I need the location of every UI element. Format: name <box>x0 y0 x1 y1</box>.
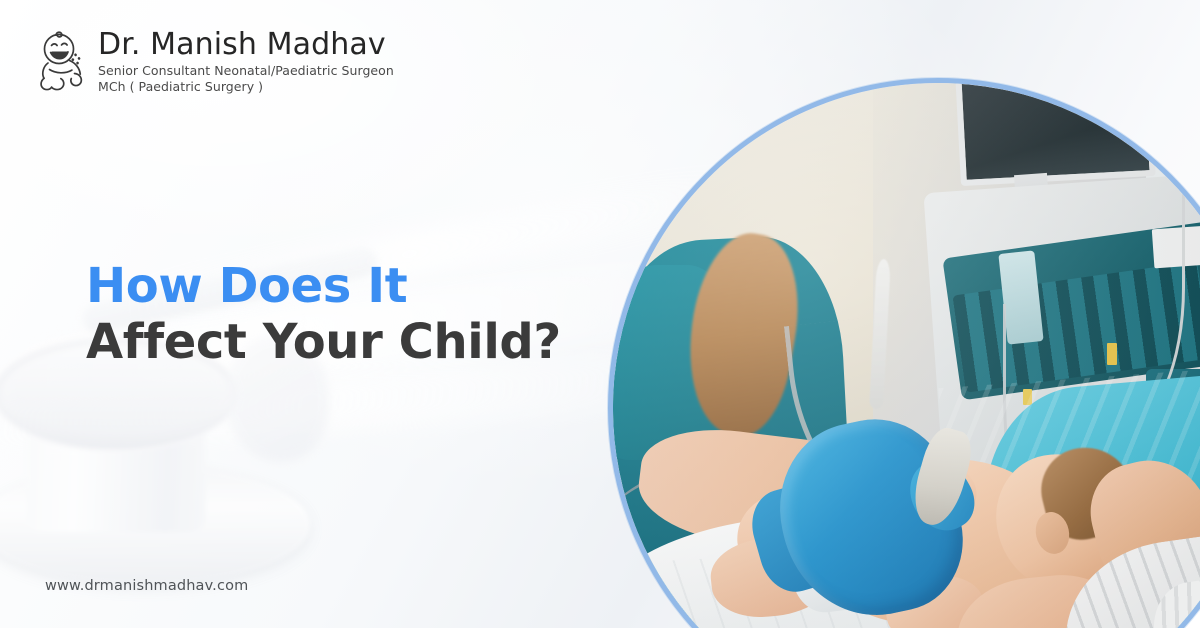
brand-logo[interactable]: Dr. Manish Madhav Senior Consultant Neon… <box>36 28 394 96</box>
brand-name: Dr. Manish Madhav <box>98 28 394 62</box>
ultrasound-monitor <box>955 83 1156 186</box>
circular-photo-frame <box>608 78 1200 628</box>
brand-credential-line-2: MCh ( Paediatric Surgery ) <box>98 79 394 95</box>
brand-text-block: Dr. Manish Madhav Senior Consultant Neon… <box>98 28 394 95</box>
baby-line-drawing-icon <box>36 30 88 96</box>
promo-banner: Dr. Manish Madhav Senior Consultant Neon… <box>0 0 1200 628</box>
website-url[interactable]: www.drmanishmadhav.com <box>45 578 248 594</box>
clinic-ultrasound-photo <box>613 83 1200 628</box>
headline-line-2: Affect Your Child? <box>86 314 561 370</box>
machine-indicator <box>1107 343 1117 365</box>
headline: How Does It Affect Your Child? <box>86 258 561 370</box>
headline-line-1: How Does It <box>86 258 561 314</box>
brand-credential-line-1: Senior Consultant Neonatal/Paediatric Su… <box>98 63 394 79</box>
